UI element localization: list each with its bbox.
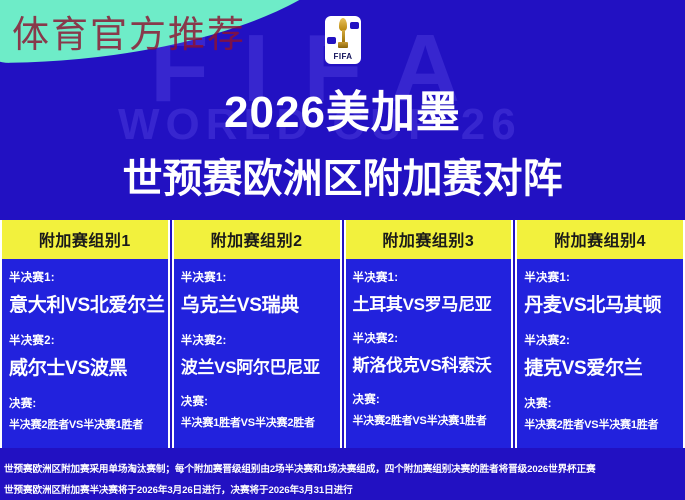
semifinal-2-label: 半决赛2: (181, 332, 333, 348)
fifa-wordmark: FIFA (325, 52, 361, 61)
semifinal-2-match: 斯洛伐克VS科索沃 (353, 351, 505, 376)
footer-line-1: 世预赛欧洲区附加赛采用单场淘汰赛制；每个附加赛晋级组别由2场半决赛和1场决赛组成… (4, 459, 681, 480)
page-title: 2026美加墨 (0, 76, 685, 140)
semifinal-2-match: 波兰VS阿尔巴尼亚 (181, 353, 333, 378)
semifinal-1-label: 半决赛1: (353, 269, 505, 285)
semifinal-1-match: 丹麦VS北马其顿 (524, 290, 676, 317)
playoff-groups-row: 附加赛组别1 半决赛1: 意大利VS北爱尔兰 半决赛2: 威尔士VS波黑 决赛:… (0, 220, 685, 448)
final-label: 决赛: (353, 391, 505, 407)
semifinal-1-label: 半决赛1: (9, 269, 161, 285)
group-header-4: 附加赛组别4 (517, 220, 683, 259)
world-cup-trophy-icon (337, 18, 349, 52)
logo-notch-upper (350, 22, 359, 29)
final-match: 半决赛2胜者VS半决赛1胜者 (9, 416, 161, 432)
footer-line-2: 世预赛欧洲区附加赛半决赛将于2026年3月26日进行，决赛将于2026年3月31… (4, 480, 681, 500)
playoff-group-card-2[interactable]: 附加赛组别2 半决赛1: 乌克兰VS瑞典 半决赛2: 波兰VS阿尔巴尼亚 决赛:… (172, 220, 342, 448)
final-label: 决赛: (524, 395, 676, 411)
semifinal-2-match: 捷克VS爱尔兰 (524, 353, 676, 380)
group-header-3: 附加赛组别3 (346, 220, 512, 259)
final-match: 半决赛2胜者VS半决赛1胜者 (353, 412, 505, 428)
semifinal-2-label: 半决赛2: (524, 332, 676, 348)
fifa-world-cup-26-logo: FIFA (325, 2, 361, 70)
playoff-group-card-3[interactable]: 附加赛组别3 半决赛1: 土耳其VS罗马尼亚 半决赛2: 斯洛伐克VS科索沃 决… (344, 220, 514, 448)
semifinal-2-label: 半决赛2: (9, 332, 161, 348)
promo-watermark: 体育官方推荐 (12, 4, 246, 58)
playoff-group-card-1[interactable]: 附加赛组别1 半决赛1: 意大利VS北爱尔兰 半决赛2: 威尔士VS波黑 决赛:… (0, 220, 170, 448)
poster-canvas: FIFA WORLD CUP 26 体育官方推荐 FIFA 2026美加墨 世预… (0, 0, 685, 500)
semifinal-2-match: 威尔士VS波黑 (9, 353, 161, 380)
group-body-2: 半决赛1: 乌克兰VS瑞典 半决赛2: 波兰VS阿尔巴尼亚 决赛: 半决赛1胜者… (174, 259, 340, 448)
semifinal-1-match: 乌克兰VS瑞典 (181, 290, 333, 317)
group-body-3: 半决赛1: 土耳其VS罗马尼亚 半决赛2: 斯洛伐克VS科索沃 决赛: 半决赛2… (346, 259, 512, 448)
group-body-4: 半决赛1: 丹麦VS北马其顿 半决赛2: 捷克VS爱尔兰 决赛: 半决赛2胜者V… (517, 259, 683, 448)
semifinal-1-match: 土耳其VS罗马尼亚 (353, 290, 505, 315)
playoff-group-card-4[interactable]: 附加赛组别4 半决赛1: 丹麦VS北马其顿 半决赛2: 捷克VS爱尔兰 决赛: … (515, 220, 685, 448)
group-header-1: 附加赛组别1 (2, 220, 168, 259)
semifinal-1-label: 半决赛1: (524, 269, 676, 285)
footer-notes: 世预赛欧洲区附加赛采用单场淘汰赛制；每个附加赛晋级组别由2场半决赛和1场决赛组成… (0, 455, 685, 500)
group-body-1: 半决赛1: 意大利VS北爱尔兰 半决赛2: 威尔士VS波黑 决赛: 半决赛2胜者… (2, 259, 168, 448)
semifinal-2-label: 半决赛2: (353, 330, 505, 346)
semifinal-1-match: 意大利VS北爱尔兰 (9, 290, 161, 317)
group-header-2: 附加赛组别2 (174, 220, 340, 259)
final-label: 决赛: (181, 393, 333, 409)
final-match: 半决赛1胜者VS半决赛2胜者 (181, 414, 333, 430)
trophy-base (338, 42, 348, 48)
page-subtitle: 世预赛欧洲区附加赛对阵 (0, 146, 685, 204)
logo-notch-lower (327, 37, 336, 44)
semifinal-1-label: 半决赛1: (181, 269, 333, 285)
final-label: 决赛: (9, 395, 161, 411)
final-match: 半决赛2胜者VS半决赛1胜者 (524, 416, 676, 432)
